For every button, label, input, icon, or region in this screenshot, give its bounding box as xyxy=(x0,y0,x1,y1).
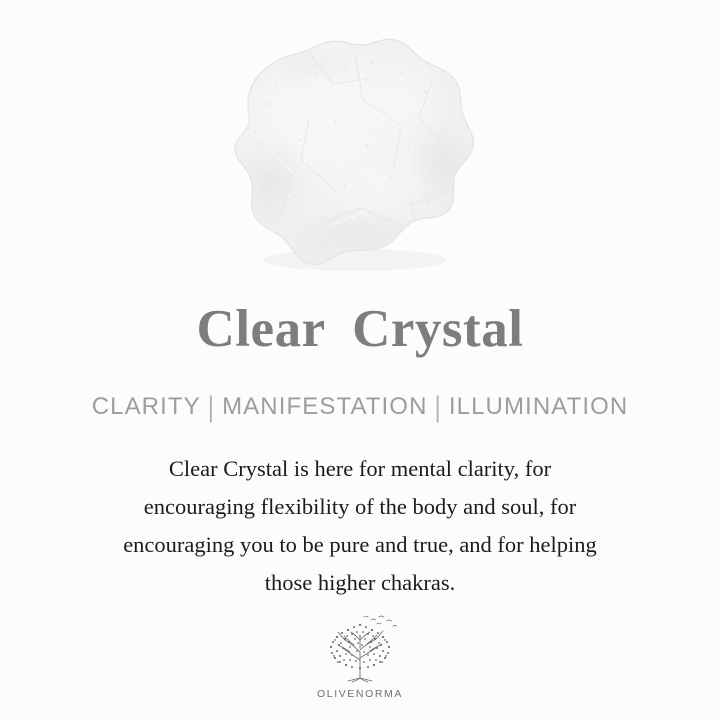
product-description: Clear Crystal is here for mental clarity… xyxy=(28,450,692,602)
product-image-container xyxy=(0,0,720,290)
keyword-separator: | xyxy=(201,390,222,425)
description-line: Clear Crystal is here for mental clarity… xyxy=(28,450,692,488)
brand-logo: OLIVENORMA xyxy=(0,612,720,700)
olive-tree-icon xyxy=(314,612,406,686)
description-line: those higher chakras. xyxy=(28,564,692,602)
clear-crystal-raw-stone-image xyxy=(205,22,495,280)
keyword-clarity: CLARITY xyxy=(92,393,201,420)
brand-wordmark: OLIVENORMA xyxy=(0,688,720,700)
keyword-list: CLARITY|MANIFESTATION|ILLUMINATION xyxy=(0,392,720,422)
description-line: encouraging flexibility of the body and … xyxy=(28,488,692,526)
product-info-card: Clear Crystal CLARITY|MANIFESTATION|ILLU… xyxy=(0,0,720,720)
page-title: Clear Crystal xyxy=(0,298,720,360)
keyword-illumination: ILLUMINATION xyxy=(449,393,628,420)
description-line: encouraging you to be pure and true, and… xyxy=(28,526,692,564)
keyword-manifestation: MANIFESTATION xyxy=(222,393,427,420)
keyword-separator: | xyxy=(428,390,449,425)
